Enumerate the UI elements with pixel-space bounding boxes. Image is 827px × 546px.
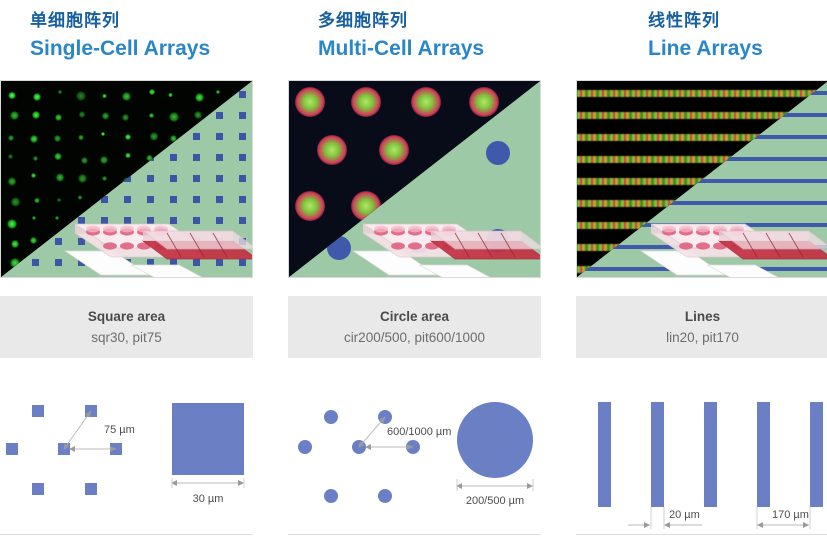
cell-line-row	[577, 90, 827, 97]
title-cn-multi-cell: 多细胞阵列	[288, 8, 541, 34]
pattern-square	[32, 259, 39, 266]
figure-root: 单细胞阵列 Single-Cell Arrays 多细胞阵列 Multi-Cel…	[0, 0, 827, 546]
pattern-square	[193, 133, 200, 140]
fluorescent-cell-dot	[7, 219, 17, 229]
fluorescent-cell-dot	[54, 135, 61, 142]
schematic-row: 75 µm 30 µm	[0, 358, 827, 535]
info-heading-square: Square area	[88, 307, 165, 327]
circle-size-swatch	[457, 402, 533, 478]
fluorescent-cell-dot	[101, 132, 105, 136]
fluorescent-cell-dot	[195, 93, 204, 102]
info-box-square-area: Square area sqr30, pit75	[0, 296, 253, 358]
fluorescent-cell-dot	[58, 90, 62, 94]
fluorescent-cell-dot	[8, 154, 13, 159]
micrograph-single-cell-arrays	[0, 80, 253, 278]
pattern-square	[170, 175, 177, 182]
chamber-slides-illustration-1	[57, 189, 253, 278]
fluorescent-cell-dot	[169, 112, 179, 122]
circle-pitch-label: 600/1000 µm	[387, 426, 451, 438]
fluorescent-cell-dot	[32, 111, 39, 118]
title-cn-single-cell: 单细胞阵列	[0, 8, 253, 34]
fluorescent-cell-dot	[33, 93, 41, 101]
pattern-square	[216, 154, 223, 161]
fluorescent-cell-dot	[81, 157, 89, 165]
fluorescent-cell-dot	[78, 174, 87, 183]
pattern-square	[239, 91, 246, 98]
cell-cluster	[351, 87, 381, 117]
column-title-multi-cell: 多细胞阵列 Multi-Cell Arrays	[288, 0, 541, 80]
schematic-line-array: 20 µm 170 µm	[576, 383, 827, 535]
fluorescent-cell-dot	[149, 89, 154, 94]
schematic-circle-array: 600/1000 µm 200/500 µm	[288, 383, 541, 535]
pattern-square	[239, 175, 246, 182]
column-title-single-cell: 单细胞阵列 Single-Cell Arrays	[0, 0, 253, 80]
fluorescent-cell-dot	[216, 90, 220, 94]
fluorescent-cell-dot	[125, 153, 131, 159]
chamber-slides-illustration-2	[345, 189, 541, 278]
square-size-swatch	[172, 403, 244, 475]
info-params-lines: lin20, pit170	[666, 327, 739, 348]
info-box-lines: Lines lin20, pit170	[576, 296, 827, 358]
info-row: Square area sqr30, pit75 Circle area cir…	[0, 278, 827, 358]
info-box-circle-area: Circle area cir200/500, pit600/1000	[288, 296, 541, 358]
square-dots	[6, 405, 122, 495]
circle-dots	[298, 410, 420, 503]
pattern-square	[216, 112, 223, 119]
fluorescent-cell-dot	[55, 114, 63, 122]
circle-pitch-arrow-diagonal	[359, 417, 385, 447]
title-cn-line: 线性阵列	[576, 8, 827, 34]
fluorescent-cell-dot	[149, 113, 154, 118]
fluorescent-cell-dot	[8, 135, 14, 141]
pattern-square	[239, 154, 246, 161]
fluorescent-cell-dot	[30, 237, 36, 243]
fluorescent-cell-dot	[194, 111, 202, 119]
pattern-square	[216, 133, 223, 140]
fluorescent-cell-dot	[8, 177, 17, 186]
line-bars	[598, 402, 823, 507]
schematic-square-array: 75 µm 30 µm	[0, 383, 253, 535]
title-en-single-cell: Single-Cell Arrays	[0, 34, 253, 64]
fluorescent-cell-dot	[150, 132, 158, 140]
pattern-square	[170, 154, 177, 161]
cell-cluster	[379, 135, 409, 165]
line-width-label: 20 µm	[669, 509, 700, 521]
pattern-circle	[486, 141, 510, 165]
square-pitch-label: 75 µm	[104, 424, 135, 436]
fluorescent-cell-dot	[102, 176, 107, 181]
cell-cluster	[469, 87, 499, 117]
fluorescent-cell-dot	[76, 91, 86, 101]
fluorescent-cell-dot	[102, 112, 110, 120]
square-size-label: 30 µm	[193, 493, 224, 505]
line-pitch-label: 170 µm	[772, 509, 809, 521]
cell-cluster	[295, 87, 325, 117]
micrograph-multi-cell-arrays	[288, 80, 541, 278]
title-en-multi-cell: Multi-Cell Arrays	[288, 34, 541, 64]
fluorescent-cell-dot	[122, 92, 130, 100]
info-heading-circle: Circle area	[380, 307, 449, 327]
fluorescent-cell-dot	[30, 135, 38, 143]
info-heading-lines: Lines	[685, 307, 720, 327]
cell-cluster	[317, 135, 347, 165]
fluorescent-cell-dot	[100, 156, 108, 164]
cell-cluster	[411, 87, 441, 117]
fluorescent-cell-dot	[34, 198, 40, 204]
cell-cluster	[295, 191, 325, 221]
fluorescent-cell-dot	[8, 92, 16, 100]
column-title-line: 线性阵列 Line Arrays	[576, 0, 827, 80]
fluorescent-cell-dot	[33, 156, 38, 161]
fluorescent-cell-dot	[56, 173, 65, 182]
micrograph-line-arrays	[576, 80, 827, 278]
title-en-line: Line Arrays	[576, 34, 827, 64]
fluorescent-cell-dot	[11, 197, 21, 207]
pitch-arrow-diagonal	[64, 411, 91, 449]
fluorescent-cell-dot	[10, 111, 19, 120]
info-params-square: sqr30, pit75	[91, 327, 162, 348]
fluorescent-cell-dot	[102, 94, 106, 98]
pattern-square	[193, 154, 200, 161]
photo-row	[0, 80, 827, 278]
info-params-circle: cir200/500, pit600/1000	[344, 327, 485, 348]
fluorescent-cell-dot	[31, 173, 36, 178]
circle-size-label: 200/500 µm	[466, 495, 524, 507]
fluorescent-cell-dot	[78, 135, 83, 140]
pattern-square	[193, 175, 200, 182]
fluorescent-cell-dot	[54, 153, 61, 160]
fluorescent-cell-dot	[11, 240, 20, 249]
fluorescent-cell-dot	[122, 114, 129, 121]
fluorescent-cell-dot	[125, 134, 131, 140]
fluorescent-cell-dot	[32, 216, 36, 220]
title-row: 单细胞阵列 Single-Cell Arrays 多细胞阵列 Multi-Cel…	[0, 0, 827, 80]
pattern-square	[239, 133, 246, 140]
chamber-slides-illustration-3	[633, 189, 827, 278]
pattern-square	[239, 112, 246, 119]
fluorescent-cell-dot	[168, 93, 173, 98]
fluorescent-cell-dot	[79, 111, 85, 117]
pattern-square	[147, 175, 154, 182]
pattern-square	[216, 175, 223, 182]
